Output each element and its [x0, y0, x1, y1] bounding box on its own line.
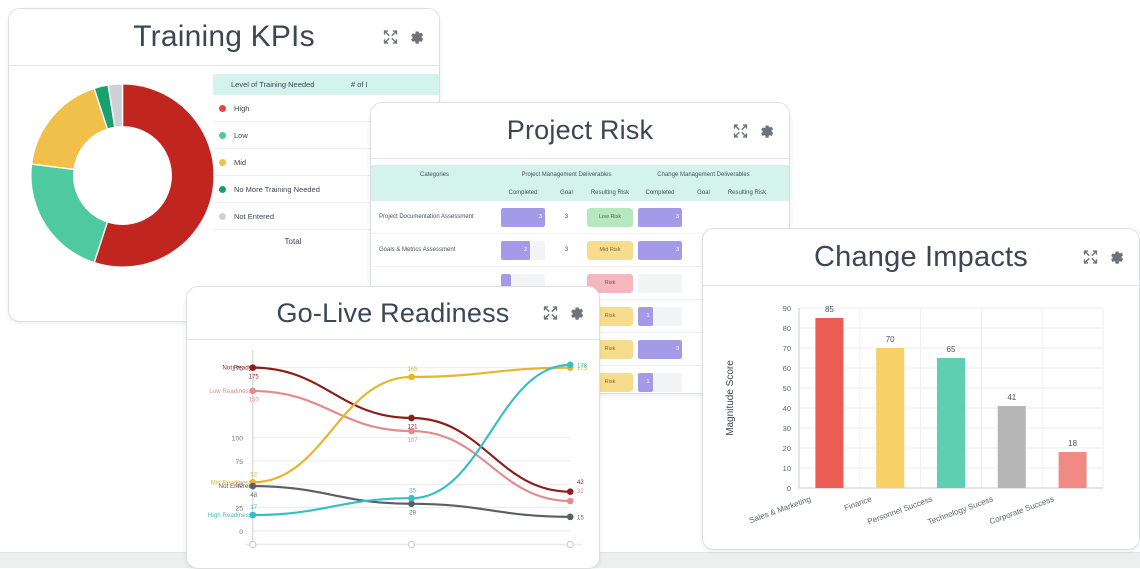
bar[interactable] — [815, 318, 843, 488]
data-point-label: 42 — [577, 480, 584, 486]
data-point-label: 32 — [577, 489, 584, 495]
expand-icon[interactable] — [1082, 249, 1099, 266]
bar-value-label: 18 — [1068, 439, 1077, 448]
legend-label: High — [234, 104, 249, 113]
page-title: Change Impacts — [814, 241, 1028, 274]
data-point-label: 107 — [407, 438, 418, 444]
gear-icon[interactable] — [1108, 249, 1125, 266]
data-point-label: 165 — [407, 367, 418, 373]
progress-bar-fill: 2 — [501, 241, 530, 260]
donut-slice[interactable] — [31, 164, 108, 263]
x-axis-tick-label: Sales & Marketing — [748, 494, 812, 525]
bar[interactable] — [1059, 452, 1087, 488]
card-header-actions — [732, 122, 775, 139]
y-axis-tick-label: 70 — [783, 344, 791, 353]
cell-pm-goal: 3 — [548, 214, 585, 220]
y-axis-tick-label: 0 — [787, 484, 791, 493]
column-header-pm-goal: Goal — [548, 190, 585, 196]
cell-pm-goal: 3 — [548, 247, 585, 253]
card-header-go-live: Go-Live Readiness — [187, 287, 599, 340]
change-impacts-bar-chart: 0102030405060708090Magnitude Score85Sale… — [703, 286, 1139, 548]
progress-bar-fill: 3 — [501, 208, 545, 227]
column-header-cm-completed: Completed — [635, 190, 685, 196]
bar-value-label: 41 — [1007, 393, 1016, 402]
training-donut-chart — [25, 78, 220, 273]
x-axis-tick-marker[interactable] — [567, 541, 573, 547]
data-point-label: 150 — [249, 398, 260, 404]
legend-color-dot — [219, 186, 226, 193]
data-point-label: 175 — [249, 374, 260, 380]
go-live-line-chart: 025507510017517512142Not Ready15010732Lo… — [187, 340, 599, 563]
progress-bar-fill: 3 — [638, 241, 682, 260]
page-title: Project Risk — [507, 115, 653, 146]
y-axis-tick-label: 40 — [783, 404, 791, 413]
expand-icon[interactable] — [542, 305, 559, 322]
page-title: Go-Live Readiness — [276, 298, 509, 329]
bar-value-label: 85 — [825, 305, 834, 314]
column-header-categories: Categories — [371, 172, 498, 178]
column-header-pm-completed: Completed — [498, 190, 548, 196]
card-change-impacts[interactable]: Change Impacts — [702, 228, 1140, 550]
card-header-change-impacts: Change Impacts — [703, 229, 1139, 286]
cell-pm-completed: 3 — [498, 208, 548, 227]
y-axis-tick-label: 10 — [783, 464, 791, 473]
legend-label: Not Entered — [234, 212, 274, 221]
gear-icon[interactable] — [568, 305, 585, 322]
cell-pm-completed: 2 — [498, 241, 548, 260]
legend-color-dot — [219, 105, 226, 112]
data-point[interactable] — [567, 362, 574, 369]
cell-category: Project Documentation Assessment — [371, 214, 498, 220]
column-header-cm-goal: Goal — [685, 190, 722, 196]
cell-category: Goals & Metrics Assessment — [371, 247, 498, 253]
progress-bar: 3 — [638, 241, 682, 260]
progress-bar-fill: 3 — [638, 208, 682, 227]
dashboard-canvas: Training KPIs — [0, 0, 1140, 567]
card-header-actions — [542, 305, 585, 322]
status-badge: Mid Risk — [587, 241, 633, 260]
column-header-pm-risk: Resulting Risk — [585, 190, 635, 196]
progress-bar-fill: 3 — [638, 340, 682, 359]
cell-cm-completed: 1 — [635, 307, 685, 326]
donut-svg — [25, 78, 220, 273]
card-header-actions — [1082, 249, 1125, 266]
progress-bar: 1 — [638, 373, 682, 392]
gear-icon[interactable] — [758, 122, 775, 139]
progress-bar: 3 — [501, 208, 545, 227]
column-header-pm-deliverables: Project Management Deliverables — [498, 172, 635, 178]
page-title: Training KPIs — [133, 20, 315, 54]
expand-icon[interactable] — [732, 122, 749, 139]
x-axis-tick-label: Finance — [843, 494, 873, 512]
progress-bar: 1 — [638, 307, 682, 326]
progress-bar: 2 — [501, 241, 545, 260]
x-axis-tick-label: Corporate Success — [988, 494, 1055, 526]
data-point[interactable] — [567, 498, 574, 505]
column-header-level: Level of Training Needed — [231, 80, 351, 89]
data-point[interactable] — [567, 488, 574, 495]
data-point-label: 15 — [577, 515, 584, 521]
series-name-label: Not Ready — [222, 365, 252, 372]
cell-cm-completed: 3 — [635, 241, 685, 260]
card-header-project-risk: Project Risk — [371, 103, 789, 159]
bar[interactable] — [876, 348, 904, 488]
progress-bar-fill: 1 — [638, 373, 653, 392]
progress-bar: 3 — [638, 340, 682, 359]
cell-pm-risk: Low Risk — [585, 208, 635, 227]
series-name-label: High Readiness — [208, 512, 252, 519]
legend-label: Mid — [234, 158, 246, 167]
card-go-live-readiness[interactable]: Go-Live Readiness — [186, 286, 600, 569]
legend-color-dot — [219, 132, 226, 139]
x-axis-tick-marker[interactable] — [250, 541, 256, 547]
y-axis-tick-label: 30 — [783, 424, 791, 433]
y-axis-tick-label: 75 — [235, 459, 243, 466]
data-point[interactable] — [408, 415, 415, 422]
data-point-label: 17 — [250, 505, 257, 511]
card-header-actions — [382, 29, 425, 46]
table-header-row: Level of Training Needed # of I — [213, 74, 440, 95]
cell-cm-completed: 1 — [635, 373, 685, 392]
x-axis-tick-label: Personnel Success — [866, 494, 933, 526]
data-point-label: 178 — [577, 363, 588, 369]
donut-slice[interactable] — [32, 88, 108, 169]
column-header-cm-risk: Resulting Risk — [722, 190, 772, 196]
series-name-label: Not Entered — [219, 483, 253, 490]
gear-icon[interactable] — [408, 29, 425, 46]
bar[interactable] — [937, 358, 965, 488]
x-axis-tick-marker[interactable] — [408, 541, 414, 547]
table-sub-header-row: Completed Goal Resulting Risk Completed … — [371, 184, 789, 201]
y-axis-tick-label: 80 — [783, 324, 791, 333]
data-point-label: 52 — [250, 473, 257, 479]
table-group-header-row: Categories Project Management Deliverabl… — [371, 165, 789, 184]
data-point[interactable] — [567, 514, 574, 521]
series-name-label: Low Readiness — [209, 388, 252, 395]
y-axis-tick-label: 60 — [783, 364, 791, 373]
expand-icon[interactable] — [382, 29, 399, 46]
bar-value-label: 70 — [886, 335, 895, 344]
progress-bar — [638, 274, 682, 293]
data-point-label: 35 — [409, 488, 416, 494]
card-body-go-live: 025507510017517512142Not Ready15010732Lo… — [187, 340, 599, 563]
status-badge: Low Risk — [587, 208, 633, 227]
x-axis-tick-label: Technology Sucess — [927, 494, 995, 526]
y-axis-tick-label: 20 — [783, 444, 791, 453]
cell-cm-completed: 3 — [635, 208, 685, 227]
y-axis-tick-label: 50 — [783, 384, 791, 393]
y-axis-tick-label: 90 — [783, 304, 791, 313]
legend-color-dot — [219, 213, 226, 220]
data-point[interactable] — [408, 374, 415, 381]
cell-cm-completed — [635, 274, 685, 293]
progress-bar-fill: 1 — [638, 307, 653, 326]
data-point-label: 29 — [409, 511, 416, 517]
legend-color-dot — [219, 159, 226, 166]
y-axis-tick-label: 100 — [232, 436, 244, 443]
y-axis-title: Magnitude Score — [725, 360, 736, 436]
data-point[interactable] — [408, 428, 415, 435]
column-header-count: # of I — [351, 80, 368, 89]
bar-value-label: 65 — [947, 345, 956, 354]
card-body-change-impacts: 0102030405060708090Magnitude Score85Sale… — [703, 286, 1139, 548]
legend-label: Low — [234, 131, 248, 140]
bar[interactable] — [998, 406, 1026, 488]
data-point[interactable] — [408, 495, 415, 502]
legend-label: No More Training Needed — [234, 185, 320, 194]
cell-cm-completed: 3 — [635, 340, 685, 359]
data-point-label: 48 — [250, 493, 257, 499]
y-axis-tick-label: 0 — [239, 529, 243, 536]
card-header-training-kpis: Training KPIs — [9, 9, 439, 66]
progress-bar: 3 — [638, 208, 682, 227]
column-header-cm-deliverables: Change Management Deliverables — [635, 172, 772, 178]
cell-pm-risk: Mid Risk — [585, 241, 635, 260]
